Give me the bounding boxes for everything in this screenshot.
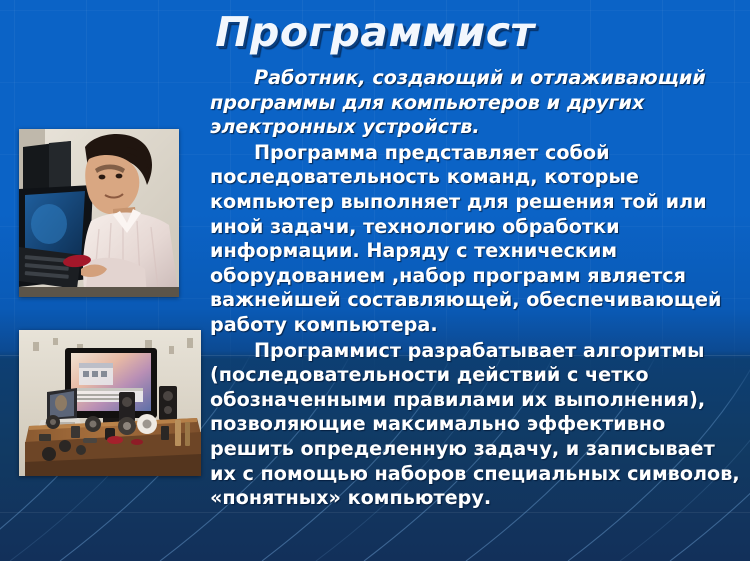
photo-2-artwork [19,330,201,476]
photo-1-artwork [19,129,179,297]
photo-desk-with-monitor-and-laptop [19,330,201,476]
background-band-rule-bottom [0,512,750,513]
paragraph-definition: Работник, создающий и отлаживающий прогр… [210,66,744,140]
slide-body-text: Работник, создающий и отлаживающий прогр… [210,66,744,511]
presentation-slide: Программист [0,0,750,561]
paragraph-algorithms: Программист разрабатывает алгоритмы (пос… [210,339,744,511]
photo-programmer-at-crt-monitor [19,129,179,297]
paragraph-program: Программа представляет собой последовате… [210,141,744,338]
page-title: Программист [0,8,750,56]
